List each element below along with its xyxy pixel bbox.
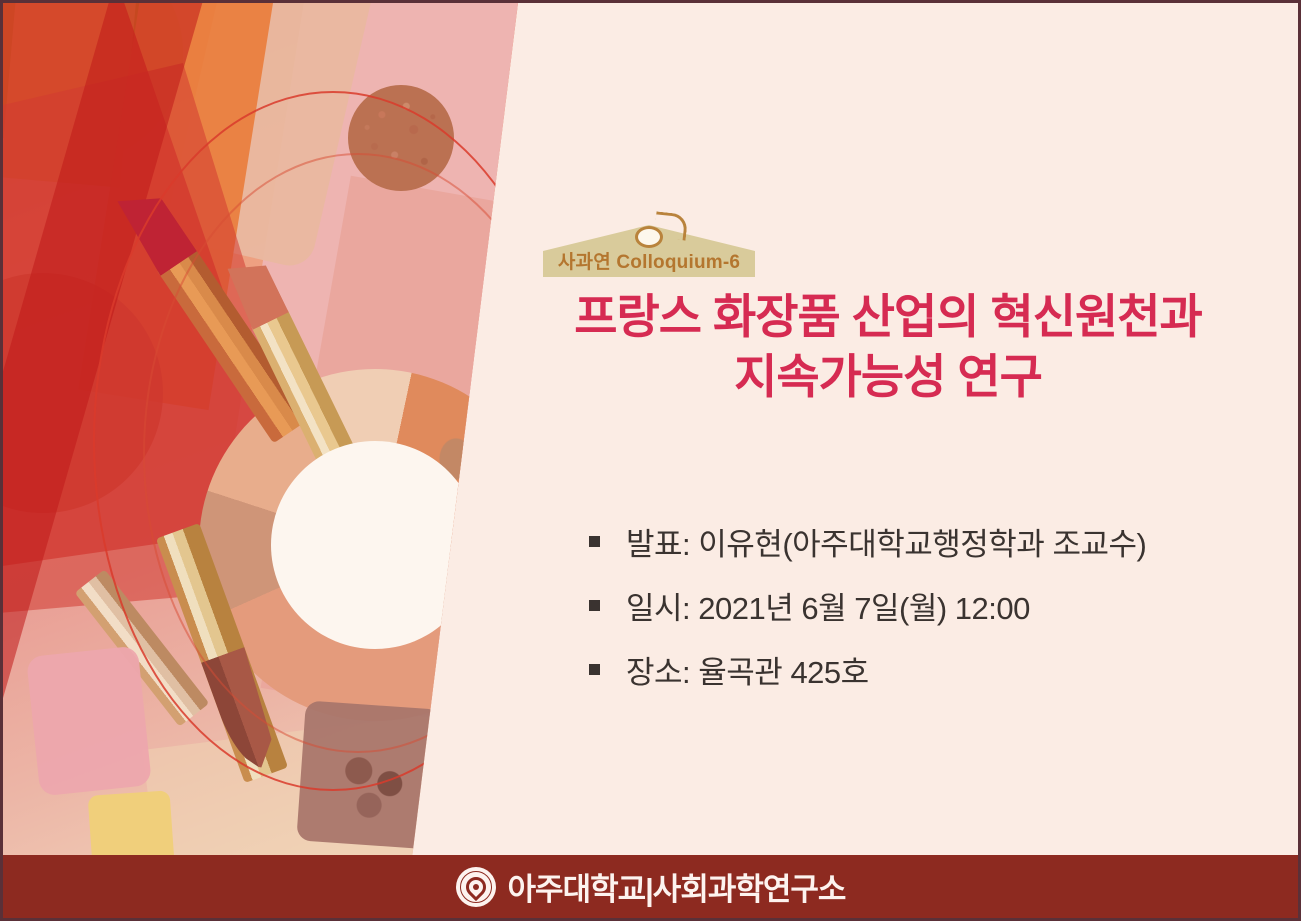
ajou-university-seal-icon [456, 867, 496, 907]
list-item: 발표: 이유현(아주대학교행정학과 조교수) [589, 509, 1289, 573]
square-bullet-icon [589, 664, 600, 675]
tag-label: 사과연 Colloquium-6 [543, 247, 755, 274]
page-title: 프랑스 화장품 산업의 혁신원천과 지속가능성 연구 [508, 287, 1268, 407]
colloquium-tag-badge: 사과연 Colloquium-6 [543, 225, 755, 277]
photo-swatch-beige [423, 803, 543, 858]
square-bullet-icon [589, 600, 600, 611]
photo-red-ring-outline-2 [143, 153, 563, 753]
photo-swatch-yellow [88, 790, 177, 858]
cosmetics-collage-image [3, 3, 563, 858]
footer-logo-group: 아주대학교|사회과학연구소 [456, 864, 846, 909]
poster-root: 사과연 Colloquium-6 프랑스 화장품 산업의 혁신원천과 지속가능성… [0, 0, 1301, 921]
page-title-line-2: 지속가능성 연구 [508, 347, 1268, 407]
detail-presenter: 발표: 이유현(아주대학교행정학과 조교수) [626, 519, 1146, 564]
photo-swatch-pink [26, 646, 152, 797]
page-title-line-1: 프랑스 화장품 산업의 혁신원천과 [508, 287, 1268, 347]
seal-swirl-mark [461, 872, 489, 900]
event-details-list: 발표: 이유현(아주대학교행정학과 조교수) 일시: 2021년 6월 7일(월… [589, 509, 1289, 701]
square-bullet-icon [589, 536, 600, 547]
footer-bar: 아주대학교|사회과학연구소 [3, 855, 1298, 918]
footer-logo-text: 아주대학교|사회과학연구소 [508, 864, 846, 909]
detail-location: 장소: 율곡관 425호 [626, 647, 869, 692]
list-item: 일시: 2021년 6월 7일(월) 12:00 [589, 573, 1289, 637]
tag-eyelet-icon [635, 226, 663, 248]
detail-datetime: 일시: 2021년 6월 7일(월) 12:00 [626, 583, 1030, 628]
list-item: 장소: 율곡관 425호 [589, 637, 1289, 701]
